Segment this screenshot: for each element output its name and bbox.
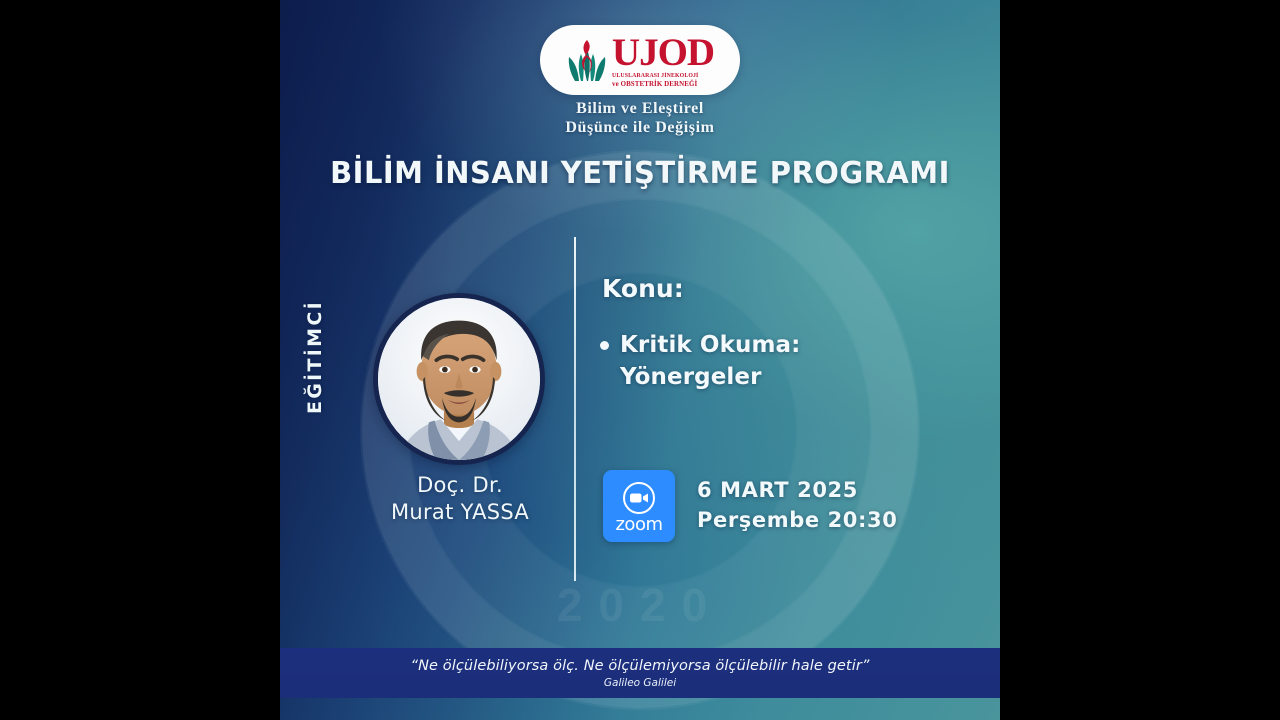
letterbox-right (1000, 0, 1280, 720)
vertical-divider (574, 237, 576, 581)
tagline-line-2: Düşünce ile Değişim (280, 119, 1000, 138)
ujod-logo-word: UJOD (612, 33, 714, 72)
organization-tagline: Bilim ve Eleştirel Düşünce ile Değişim (280, 100, 1000, 138)
meeting-date: 6 MART 2025 (697, 476, 897, 506)
meeting-info: zoom 6 MART 2025 Perşembe 20:30 (603, 470, 897, 542)
topic-text: Kritik Okuma: Yönergeler (620, 330, 800, 393)
ujod-leaf-icon (566, 37, 608, 83)
quote-banner: “Ne ölçülebiliyorsa ölç. Ne ölçülemiyors… (280, 648, 1000, 698)
letterbox-left (0, 0, 280, 720)
ujod-logo-subtitle-line2: ve OBSTETRİK DERNEĞİ (612, 80, 697, 87)
webinar-poster: 2020 UJOD ULUSLARARASI JİNEKOLOJİ ve OBS… (280, 0, 1000, 720)
ujod-logo-type: UJOD ULUSLARARASI JİNEKOLOJİ ve OBSTETRİ… (612, 33, 714, 87)
bullet-icon (600, 341, 609, 350)
ujod-logo-badge: UJOD ULUSLARARASI JİNEKOLOJİ ve OBSTETRİ… (540, 25, 740, 95)
topic-line-1: Kritik Okuma: (620, 332, 800, 358)
zoom-logo: zoom (603, 470, 675, 542)
instructor-role-label: EĞİTİMCİ (304, 300, 326, 414)
topic-line-2: Yönergeler (620, 364, 762, 390)
screenshot-stage: 2020 UJOD ULUSLARARASI JİNEKOLOJİ ve OBS… (0, 0, 1280, 720)
video-camera-icon (622, 481, 656, 515)
meeting-day-time: Perşembe 20:30 (697, 506, 897, 536)
poster-main-title: BİLİM İNSANI YETİŞTİRME PROGRAMI (298, 156, 982, 191)
speaker-portrait-icon (378, 298, 540, 460)
speaker-fullname-line: Murat YASSA (340, 499, 580, 526)
meeting-datetime: 6 MART 2025 Perşembe 20:30 (697, 476, 897, 536)
quote-text: “Ne ölçülebiliyorsa ölç. Ne ölçülemiyors… (410, 658, 869, 674)
speaker-name: Doç. Dr. Murat YASSA (340, 472, 580, 527)
zoom-wordmark: zoom (615, 516, 662, 534)
speaker-avatar (373, 293, 545, 465)
topic-list-item: Kritik Okuma: Yönergeler (600, 330, 900, 393)
topic-heading: Konu: (602, 274, 684, 303)
speaker-title-line: Doç. Dr. (340, 472, 580, 499)
quote-author: Galileo Galilei (604, 677, 676, 689)
background-year-watermark: 2020 (280, 578, 1000, 632)
tagline-line-1: Bilim ve Eleştirel (280, 100, 1000, 119)
